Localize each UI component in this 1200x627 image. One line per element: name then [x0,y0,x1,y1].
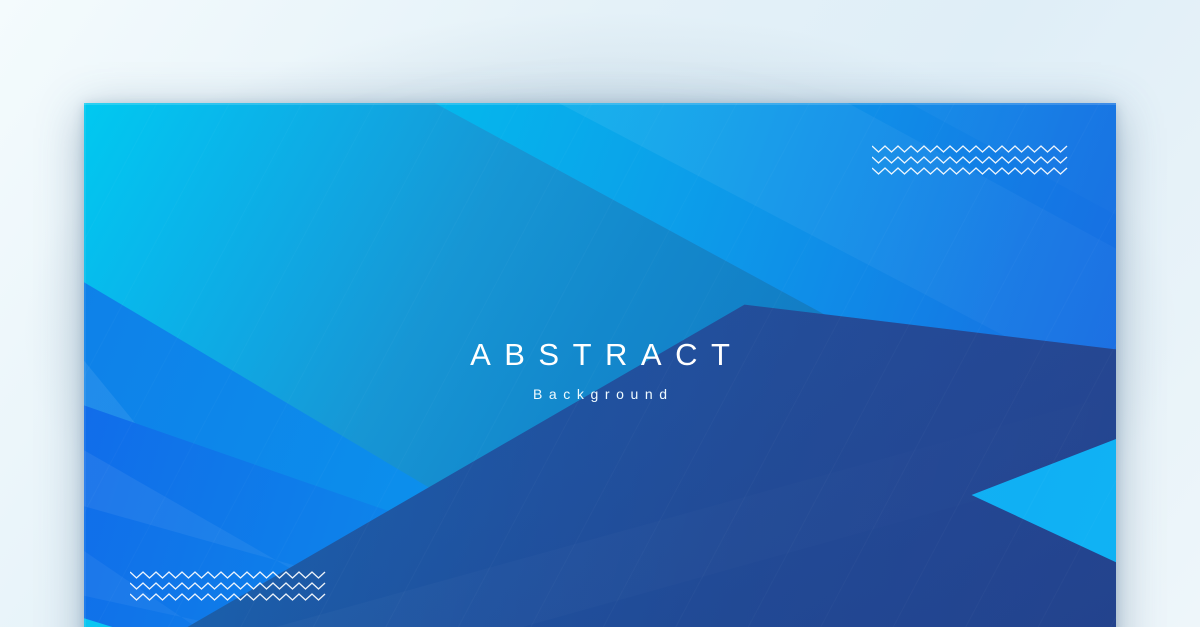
card-left-highlight [84,103,86,627]
canvas: ABSTRACT Background [0,0,1200,627]
card-top-highlight [84,103,1116,105]
abstract-background-artwork: ABSTRACT Background [84,103,1116,627]
zigzag-top-right-icon [872,141,1072,187]
zigzag-bottom-left-icon [130,567,330,613]
